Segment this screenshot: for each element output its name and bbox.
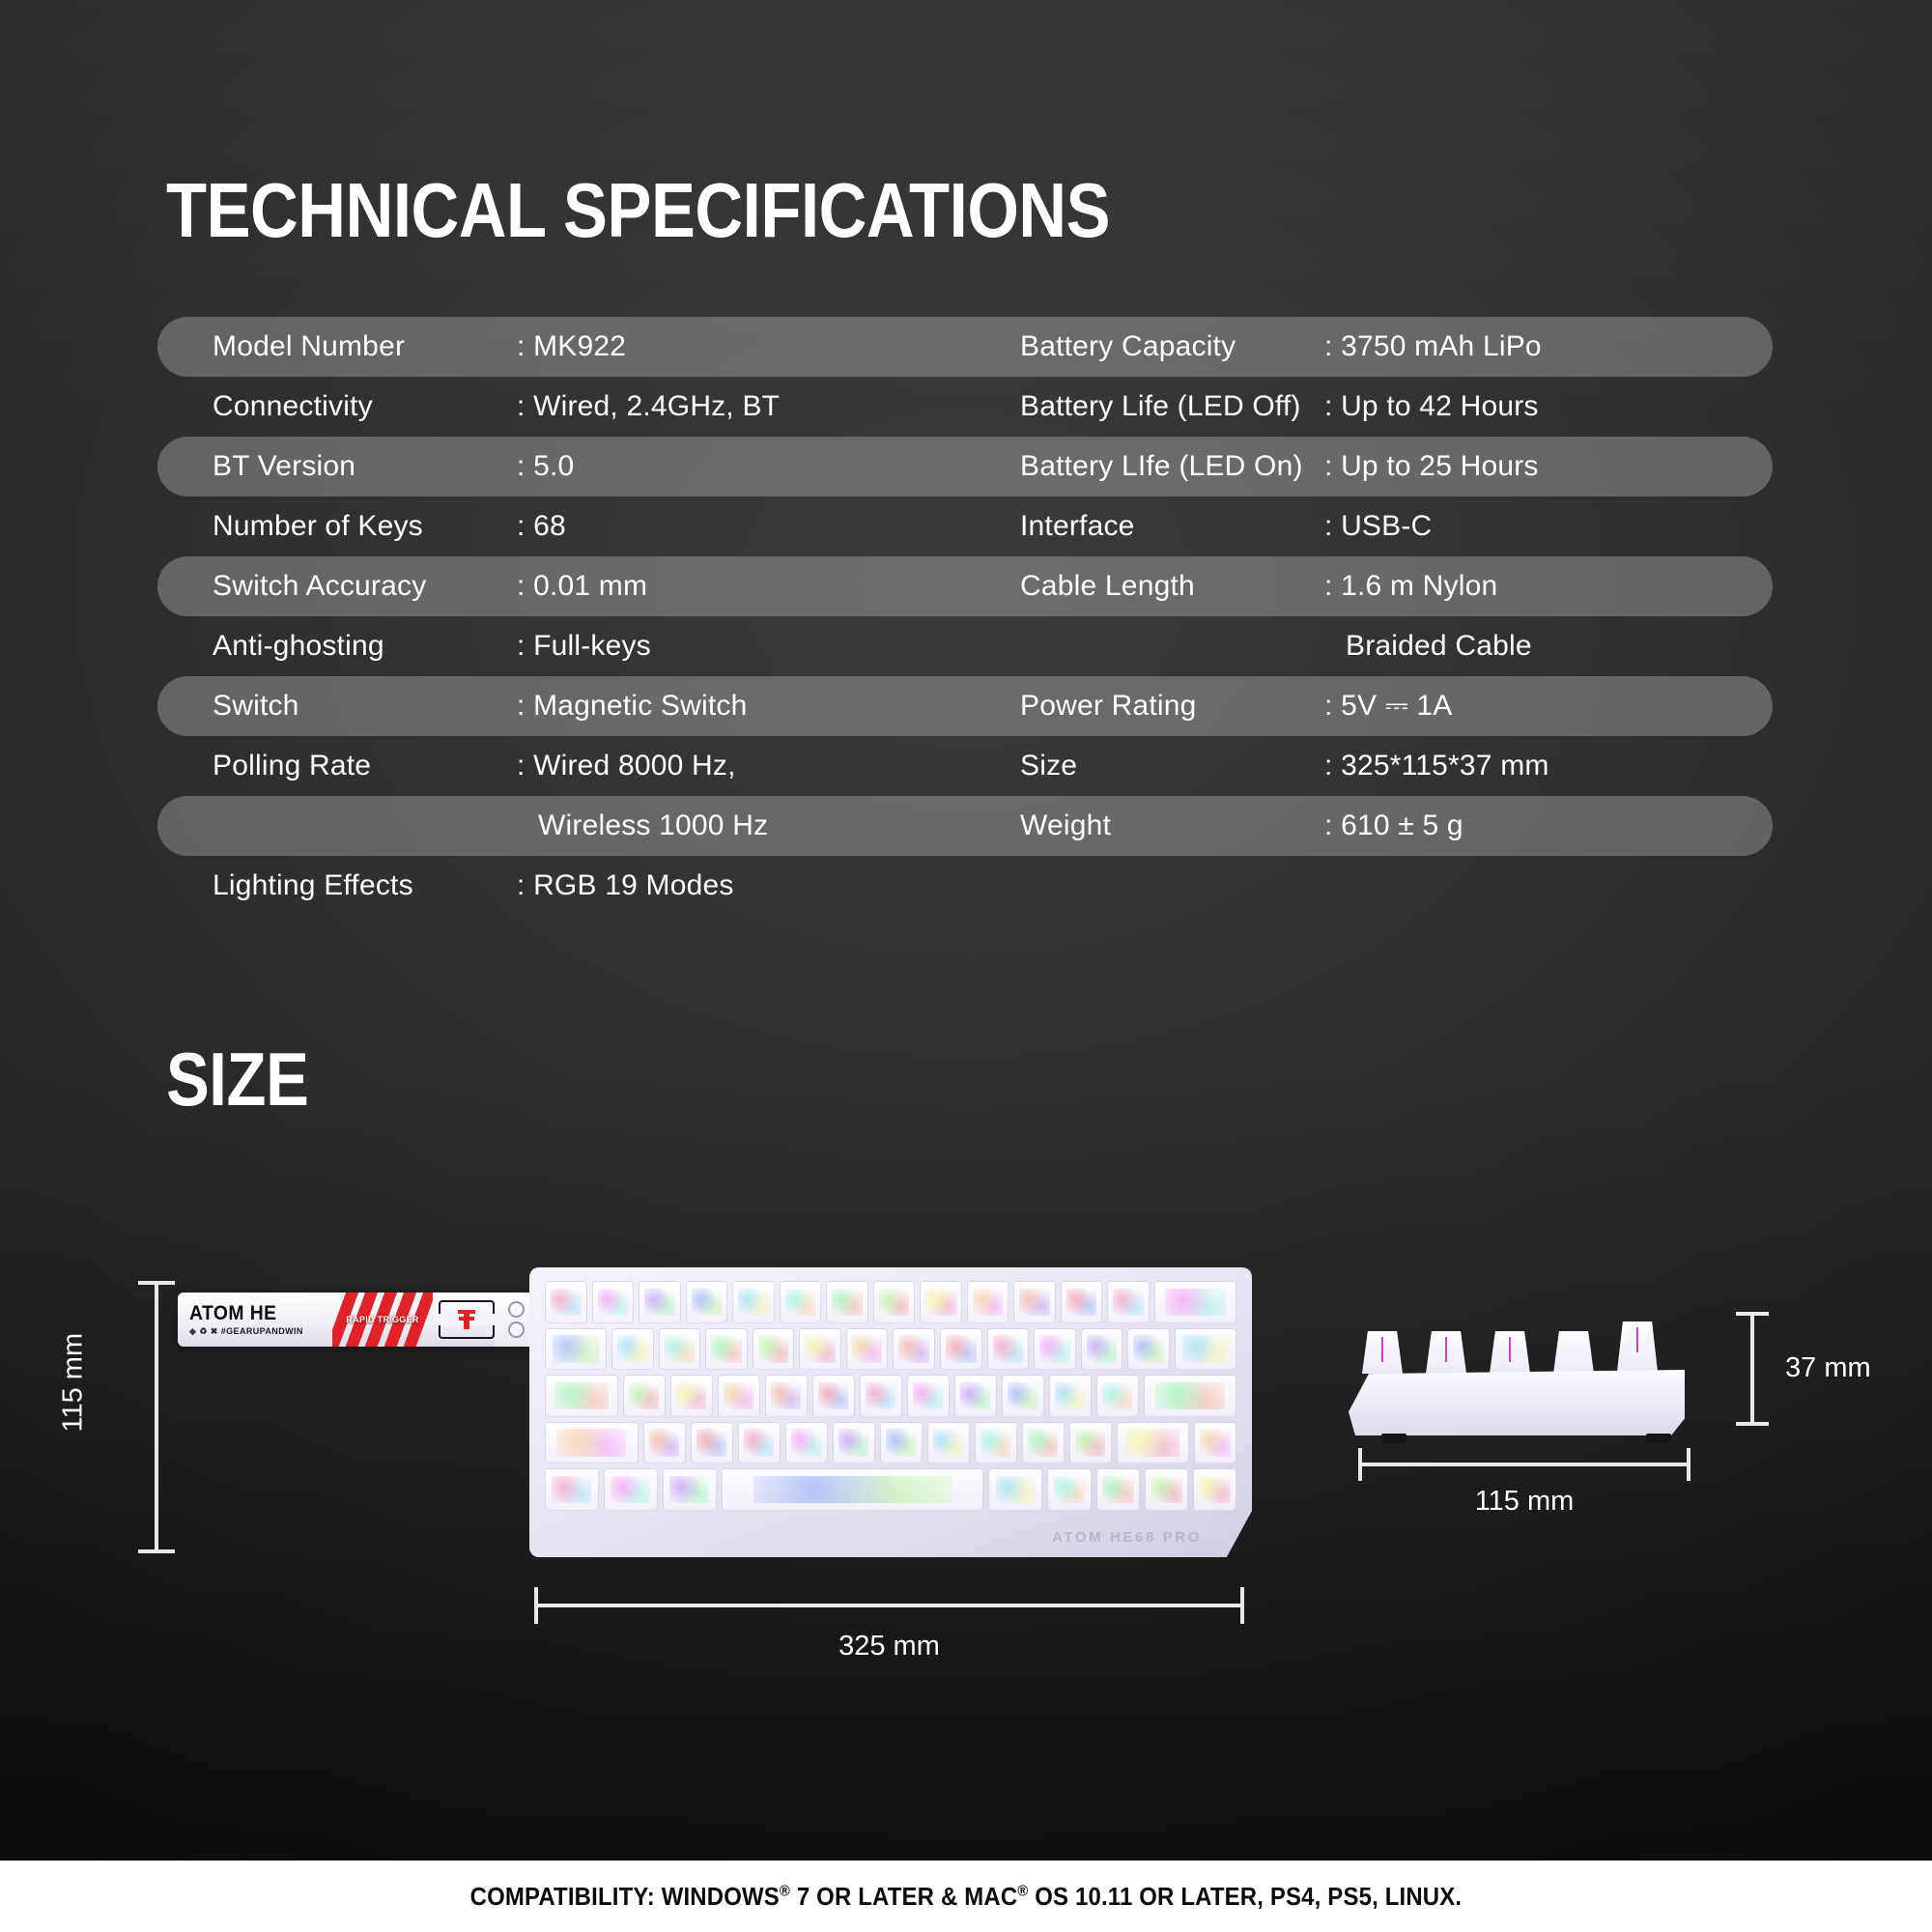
table-row: Switch: Magnetic SwitchPower Rating: 5V … [157,676,1773,736]
keycap [604,1468,658,1511]
spec-cell-left: Switch Accuracy: 0.01 mm [157,570,965,603]
keycap [1175,1328,1236,1371]
spec-label: Number of Keys [157,510,517,543]
fantech-logo-frame [439,1300,495,1339]
spec-label: Battery Life (LED Off) [965,390,1324,423]
registered-mark-icon: ® [1017,1882,1028,1899]
keycap [1117,1422,1190,1464]
spec-value: : Wired, 2.4GHz, BT [517,390,780,423]
spec-label: Cable Length [965,570,1324,603]
keycap [1022,1422,1065,1464]
keyboard-foot-icon [1381,1434,1406,1443]
keycap [738,1422,781,1464]
keycap [954,1375,997,1417]
keycap [545,1375,618,1417]
compat-suffix: OS 10.11 OR LATER, PS4, PS5, LINUX. [1028,1882,1462,1911]
size-diagram: 115 mm ATOM HE ◈ ♻ ✖ #GEARUPANDWIN RAPID… [0,1236,1932,1671]
keycap [639,1281,681,1323]
recycle-icon: ♻ [199,1326,207,1337]
spec-value: : 610 ± 5 g [1324,810,1463,842]
keycap [705,1328,748,1371]
keyboard-key-row [545,1468,1236,1511]
no-entry-icon: ✖ [211,1326,218,1337]
spec-cell-right: Power Rating: 5V ⎓ 1A [965,690,1773,723]
keycap [1047,1468,1091,1511]
side-keycap [1553,1331,1594,1374]
spec-cell-right: Battery LIfe (LED On): Up to 25 Hours [965,450,1773,483]
keyboard-bottom-logo: ATOM HE68 PRO [1052,1529,1202,1546]
spec-cell-left: Lighting Effects: RGB 19 Modes [157,869,965,902]
spec-cell-left: Anti-ghosting: Full-keys [157,630,965,663]
spec-cell-right: Cable Length: 1.6 m Nylon [965,570,1773,603]
spec-label: Switch [157,690,517,723]
keycap [785,1422,828,1464]
keycap [643,1422,686,1464]
keycap [545,1468,599,1511]
keycap [780,1281,822,1323]
keycap [670,1375,713,1417]
spec-cell-right: Size: 325*115*37 mm [965,750,1773,782]
spec-label: Lighting Effects [157,869,517,902]
section-title-size: SIZE [166,1041,308,1117]
keycap [659,1328,701,1371]
spec-label: Anti-ghosting [157,630,517,663]
table-row: Lighting Effects: RGB 19 Modes [157,856,1773,916]
table-row: Polling Rate: Wired 8000 Hz,Size: 325*11… [157,736,1773,796]
keyboard-key-row [545,1422,1236,1464]
keycap [907,1375,950,1417]
side-keycap [1426,1331,1466,1374]
side-keycap [1490,1331,1530,1374]
keycap [812,1375,855,1417]
keycap [880,1422,923,1464]
spec-label: Connectivity [157,390,517,423]
tag-hashtag-row: ◈ ♻ ✖ #GEARUPANDWIN [189,1326,332,1337]
spec-label: Battery Capacity [965,330,1324,363]
tag-brand-block: ATOM HE ◈ ♻ ✖ #GEARUPANDWIN [178,1303,332,1337]
spec-label: Switch Accuracy [157,570,517,603]
keyboard-keycap-grid [545,1281,1236,1511]
keycap [940,1328,982,1371]
spec-cell-right: Battery Capacity: 3750 mAh LiPo [965,330,1773,363]
spec-cell-right: Interface: USB-C [965,510,1773,543]
keycap [1002,1375,1044,1417]
keycap [1127,1328,1170,1371]
spec-value: : 5.0 [517,450,574,483]
keycap [611,1328,654,1371]
spec-cell-right: Braided Cable [965,630,1773,663]
table-row: Connectivity: Wired, 2.4GHz, BTBattery L… [157,377,1773,437]
rapid-trigger-label: RAPID TRIGGER [346,1315,418,1324]
keycap [1107,1281,1150,1323]
keycap [545,1281,587,1323]
keycap [1145,1468,1188,1511]
keycap [1096,1375,1139,1417]
spec-label: Interface [965,510,1324,543]
keycap [623,1375,666,1417]
grommet-hole-icon [508,1321,525,1338]
spec-cell-left: Wireless 1000 Hz [157,810,965,842]
dimension-label-115mm-depth: 115 mm [1358,1486,1690,1518]
keyboard-side-chassis [1349,1370,1685,1435]
keycap [722,1468,984,1511]
table-row: BT Version: 5.0Battery LIfe (LED On): Up… [157,437,1773,497]
page-title-technical-specifications: TECHNICAL SPECIFICATIONS [166,172,1110,249]
spec-cell-left: Number of Keys: 68 [157,510,965,543]
spec-value: : 325*115*37 mm [1324,750,1549,782]
spec-label: Power Rating [965,690,1324,723]
spec-cell-right: Battery Life (LED Off): Up to 42 Hours [965,390,1773,423]
keycap [691,1422,733,1464]
dimension-line-height-vertical [155,1281,158,1553]
tag-hashtag-text: #GEARUPANDWIN [221,1326,303,1336]
keyboard-key-row [545,1375,1236,1417]
spec-cell-right: Weight: 610 ± 5 g [965,810,1773,842]
keycap [765,1375,808,1417]
keycap [1034,1328,1076,1371]
keycap [826,1281,868,1323]
spec-label: Model Number [157,330,517,363]
table-row: Number of Keys: 68Interface: USB-C [157,497,1773,556]
keycap [893,1328,935,1371]
globe-icon: ◈ [189,1326,196,1337]
dimension-line-width-horizontal [534,1604,1244,1607]
keycap [1069,1422,1112,1464]
compat-prefix: COMPATIBILITY: WINDOWS [470,1882,780,1911]
keycap [927,1422,970,1464]
specifications-table: Model Number: MK922Battery Capacity: 375… [157,317,1773,916]
registered-mark-icon: ® [780,1882,790,1899]
spec-value: : Magnetic Switch [517,690,748,723]
keycap [718,1375,760,1417]
grommet-hole-icon [508,1301,525,1318]
keycap [545,1328,607,1371]
keyboard-key-row [545,1328,1236,1371]
dimension-line-side-depth [1358,1463,1690,1466]
spec-value: : USB-C [1324,510,1432,543]
keycap [1144,1375,1237,1417]
keycap [686,1281,728,1323]
spec-value: Wireless 1000 Hz [517,810,768,842]
spec-cell-left: BT Version: 5.0 [157,450,965,483]
table-row: Wireless 1000 HzWeight: 610 ± 5 g [157,796,1773,856]
keycap [846,1328,889,1371]
tag-brand-name: ATOM HE [189,1303,321,1323]
spec-value: : Full-keys [517,630,651,663]
keycap [1013,1281,1056,1323]
keycap [1096,1468,1140,1511]
spec-sheet-page: TECHNICAL SPECIFICATIONS Model Number: M… [0,0,1932,1932]
compat-mid: 7 OR LATER & MAC [790,1882,1017,1911]
keycap [833,1422,875,1464]
table-row: Model Number: MK922Battery Capacity: 375… [157,317,1773,377]
keycap [1081,1328,1123,1371]
keycap [753,1328,795,1371]
dimension-line-side-height [1750,1312,1754,1426]
keycap [1049,1375,1092,1417]
spec-label: Battery LIfe (LED On) [965,450,1324,483]
keycap [987,1328,1030,1371]
keycap [860,1375,902,1417]
spec-value: Braided Cable [1324,630,1532,663]
keycap [988,1468,1042,1511]
keyboard-key-row [545,1281,1236,1323]
table-row: Switch Accuracy: 0.01 mmCable Length: 1.… [157,556,1773,616]
spec-label: BT Version [157,450,517,483]
keycap [592,1281,635,1323]
spec-value: : 1.6 m Nylon [1324,570,1497,603]
spec-label: Size [965,750,1324,782]
keycap [975,1422,1017,1464]
spec-value: : 0.01 mm [517,570,647,603]
keycap [920,1281,962,1323]
keycap [1154,1281,1236,1323]
rapid-trigger-badge: RAPID TRIGGER [332,1293,433,1347]
spec-cell-left: Model Number: MK922 [157,330,965,363]
dimension-label-115mm-height: 115 mm [58,1333,90,1433]
spec-value: : MK922 [517,330,626,363]
spec-value: : RGB 19 Modes [517,869,734,902]
fantech-logo-icon [454,1308,479,1331]
spec-value: : Up to 42 Hours [1324,390,1539,423]
table-row: Anti-ghosting: Full-keysBraided Cable [157,616,1773,676]
spec-value: : 3750 mAh LiPo [1324,330,1542,363]
spec-cell-left: Connectivity: Wired, 2.4GHz, BT [157,390,965,423]
keyboard-side-view [1349,1318,1696,1443]
side-keycap [1617,1321,1658,1372]
spec-value: : 68 [517,510,566,543]
spec-label: Polling Rate [157,750,517,782]
spec-value: : Wired 8000 Hz, [517,750,736,782]
compatibility-text: COMPATIBILITY: WINDOWS® 7 OR LATER & MAC… [470,1882,1463,1912]
keycap [545,1422,639,1464]
keycap [732,1281,775,1323]
keycap [1194,1422,1236,1464]
compatibility-footer-bar: COMPATIBILITY: WINDOWS® 7 OR LATER & MAC… [0,1861,1932,1932]
spec-cell-left: Switch: Magnetic Switch [157,690,965,723]
keyboard-top-view: ATOM HE68 PRO [529,1267,1252,1557]
keycap [1193,1468,1236,1511]
keycap [967,1281,1009,1323]
spec-value: : 5V ⎓ 1A [1324,690,1452,723]
dimension-label-37mm-height: 37 mm [1785,1352,1871,1384]
keycap [873,1281,916,1323]
keycap [663,1468,717,1511]
keycap [799,1328,841,1371]
keyboard-foot-icon [1646,1434,1671,1443]
dimension-label-325mm-width: 325 mm [534,1631,1244,1662]
keycap [1061,1281,1103,1323]
keyboard-lanyard-tag: ATOM HE ◈ ♻ ✖ #GEARUPANDWIN RAPID TRIGGE… [178,1293,537,1347]
spec-cell-left: Polling Rate: Wired 8000 Hz, [157,750,965,782]
spec-label: Weight [965,810,1324,842]
spec-value: : Up to 25 Hours [1324,450,1539,483]
side-keycap [1362,1331,1403,1374]
